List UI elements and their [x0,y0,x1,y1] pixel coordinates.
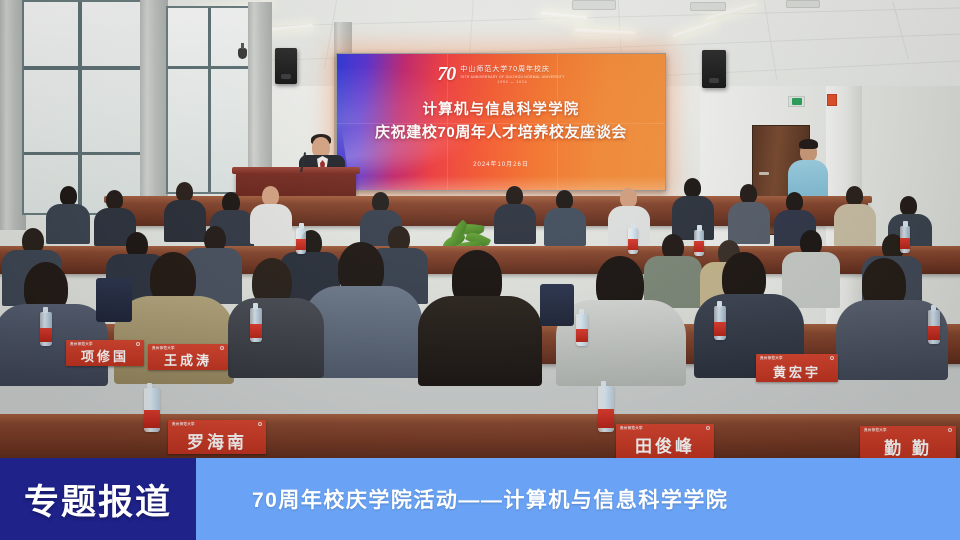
fire-equipment-sign-icon [827,94,837,106]
water-bottle [714,306,726,340]
screen-title-line1: 计算机与信息科学学院 [337,100,665,122]
attendee-head [506,186,523,206]
banner-headline-block: 70周年校庆学院活动——计算机与信息科学学院 [196,458,960,540]
nameplate-seal-icon [706,426,710,430]
nameplate-name: 勤 勤 [860,434,956,458]
nameplate-seal-icon [220,346,224,350]
logo-70-mark: 70 [437,64,455,84]
chair-back [96,278,132,322]
attendee-head [176,182,193,202]
screen-date-text: 2024年10月26日 [337,159,665,168]
nameplate-name: 项修国 [66,346,144,366]
conference-room-photo: 70 中山师范大学70周年校庆 70TH ANNIVERSARY OF GUIZ… [0,0,960,458]
screen-title-line2: 庆祝建校70周年人才培养校友座谈会 [337,122,665,145]
logo-english-text: 70TH ANNIVERSARY OF GUIZHOU NORMAL UNIVE… [460,75,565,79]
nameplate-card: 贵州师范大学 田俊峰 [616,424,714,458]
lower-third-banner: 专题报道 70周年校庆学院活动——计算机与信息科学学院 [0,458,960,540]
banner-headline: 70周年校庆学院活动——计算机与信息科学学院 [252,484,728,514]
nameplate-org: 贵州师范大学 [70,342,93,347]
nameplate-card: 贵州师范大学 黄宏宇 [756,354,838,382]
window-curtain [140,0,168,208]
water-bottle [250,308,262,342]
attendee-head [620,188,637,208]
attendee-body [46,204,90,244]
logo-years-text: 1950 — 2024 [460,80,565,84]
nameplate-org: 贵州师范大学 [172,422,195,427]
wall-speaker [275,48,297,84]
nameplate-name: 罗海南 [168,428,266,454]
water-bottle [576,314,588,346]
window-curtain [248,2,272,182]
water-bottle [900,226,910,253]
attendee-head [372,192,389,212]
nameplate-org: 贵州师范大学 [620,426,643,431]
attendee-head [556,190,573,210]
attendee-head [60,186,77,206]
attendee-body [672,196,714,240]
attendee-body [544,208,586,246]
nameplate-org: 贵州师范大学 [760,356,783,361]
water-bottle [598,386,614,432]
screen-title-block: 计算机与信息科学学院 庆祝建校70周年人才培养校友座谈会 [337,100,665,144]
nameplate-seal-icon [258,422,262,426]
water-bottle [296,228,306,254]
attendee-body [164,200,206,242]
wall-speaker [702,50,726,88]
exit-sign-icon [788,96,805,107]
ceiling-vent [786,0,820,8]
attendee-head [684,178,701,198]
chair-back [540,284,574,326]
nameplate-card: 贵州师范大学 项修国 [66,340,144,366]
attendee-body [418,296,542,386]
ceiling-vent [690,2,726,11]
ceiling-vent [572,0,616,10]
attendee-head [740,184,757,204]
nameplate-seal-icon [136,342,140,346]
water-bottle [694,230,704,256]
screenshot-root: 70 中山师范大学70周年校庆 70TH ANNIVERSARY OF GUIZ… [0,0,960,540]
attendee-body [494,204,536,244]
window [166,6,252,194]
attendee-head [846,186,863,206]
water-bottle [144,388,160,432]
attendee-body [834,204,876,246]
nameplate-name: 黄宏宇 [756,362,838,382]
nameplate-org: 贵州师范大学 [152,346,175,351]
nameplate-seal-icon [948,428,952,432]
nameplate-card: 贵州师范大学 勤 勤 [860,426,956,458]
nameplate-card: 贵州师范大学 王成涛 [148,344,228,370]
attendee-body [228,298,324,378]
nameplate-seal-icon [830,356,834,360]
standing-attendee-hair [799,139,818,149]
led-display-screen: 70 中山师范大学70周年校庆 70TH ANNIVERSARY OF GUIZ… [336,53,666,191]
nameplate-name: 王成涛 [148,350,228,370]
window [22,0,142,215]
nameplate-name: 田俊峰 [616,432,714,458]
attendee-head [900,196,917,216]
water-bottle [928,310,940,344]
attendee-head [106,190,123,210]
water-bottle [628,228,638,254]
attendee-body [250,204,292,244]
nameplate-org: 贵州师范大学 [864,428,887,433]
anniversary-logo: 70 中山师范大学70周年校庆 70TH ANNIVERSARY OF GUIZ… [337,64,665,84]
attendee-head [786,192,803,212]
screen-bottom-glow [337,176,665,190]
banner-tag-block: 专题报道 [0,458,196,540]
banner-tag-label: 专题报道 [24,474,172,525]
attendee-head [262,186,279,206]
water-bottle [40,312,52,346]
nameplate-card: 贵州师范大学 罗海南 [168,420,266,454]
attendee-body [728,202,770,244]
logo-chinese-text: 中山师范大学70周年校庆 [460,64,565,74]
security-camera-icon [238,48,247,59]
